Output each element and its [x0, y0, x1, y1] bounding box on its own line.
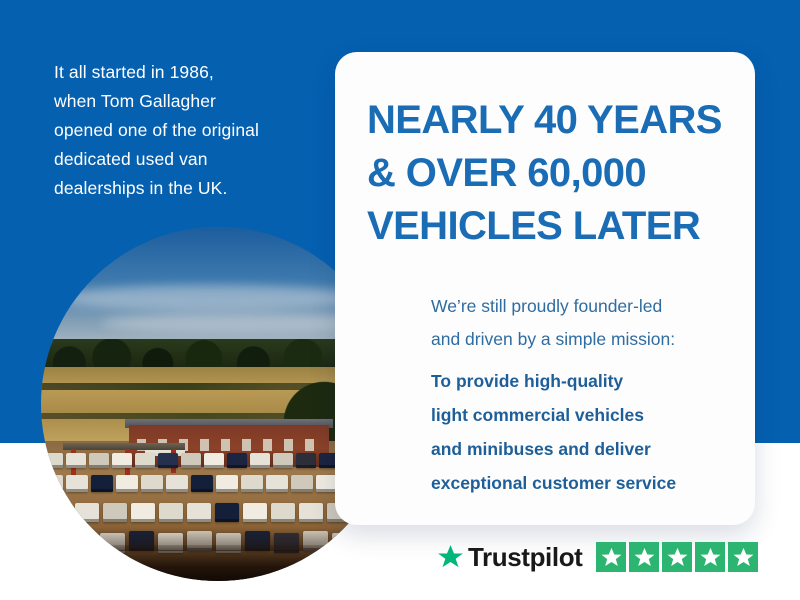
photo-vehicle [250, 453, 270, 468]
photo-vehicle [296, 453, 316, 468]
photo-vehicle [89, 453, 109, 468]
photo-vehicle [131, 503, 155, 522]
photo-vehicle [291, 475, 313, 492]
headline: NEARLY 40 YEARS & OVER 60,000 VEHICLES L… [367, 94, 747, 253]
content-card: NEARLY 40 YEARS & OVER 60,000 VEHICLES L… [335, 52, 755, 525]
photo-vehicle [243, 503, 267, 522]
mission-statement: To provide high-quality light commercial… [431, 364, 731, 500]
lede-line-2: and driven by a simple mission: [431, 323, 731, 356]
photo-vehicle [41, 475, 63, 492]
mission-line-3: and minibuses and deliver [431, 432, 731, 466]
mission-line-1: To provide high-quality [431, 364, 731, 398]
promo-graphic: It all started in 1986, when Tom Gallagh… [0, 0, 800, 600]
trustpilot-logo[interactable]: Trustpilot [437, 544, 582, 571]
lede-line-1: We’re still proudly founder-led [431, 290, 731, 323]
lede-paragraph: We’re still proudly founder-led and driv… [431, 290, 731, 356]
photo-vehicle [75, 503, 99, 522]
trustpilot-wordmark: Trustpilot [468, 544, 582, 570]
photo-vehicle [66, 475, 88, 492]
intro-paragraph: It all started in 1986, when Tom Gallagh… [54, 58, 316, 203]
photo-vehicle [216, 475, 238, 492]
photo-vehicle [103, 503, 127, 522]
photo-vehicle [181, 453, 201, 468]
photo-canopy [63, 443, 185, 450]
trustpilot-star-tile[interactable] [695, 542, 725, 572]
intro-line-1: It all started in 1986, [54, 58, 316, 87]
mission-line-2: light commercial vehicles [431, 398, 731, 432]
photo-vehicle [112, 453, 132, 468]
photo-foreground [41, 545, 395, 581]
trustpilot-star-tile[interactable] [629, 542, 659, 572]
intro-line-3: opened one of the original [54, 116, 316, 145]
star-icon [732, 546, 755, 569]
photo-vehicle [66, 453, 86, 468]
photo-vehicle [215, 503, 239, 522]
photo-vehicle [158, 453, 178, 468]
trustpilot-star-tile[interactable] [596, 542, 626, 572]
mission-line-4: exceptional customer service [431, 466, 731, 500]
trustpilot-star-tiles[interactable] [596, 542, 758, 572]
intro-line-4: dedicated used van [54, 145, 316, 174]
photo-vehicle [91, 475, 113, 492]
star-icon [666, 546, 689, 569]
photo-vehicle [241, 475, 263, 492]
headline-line-3: VEHICLES LATER [367, 200, 747, 253]
photo-vehicle [271, 503, 295, 522]
photo-vehicle [116, 475, 138, 492]
star-icon [600, 546, 623, 569]
photo-vehicle [266, 475, 288, 492]
star-icon [633, 546, 656, 569]
trustpilot-rating[interactable]: Trustpilot [437, 542, 758, 572]
photo-vehicle [187, 503, 211, 522]
photo-vehicle [166, 475, 188, 492]
photo-vehicle [273, 453, 293, 468]
photo-vehicle [159, 503, 183, 522]
headline-line-2: & OVER 60,000 [367, 147, 747, 200]
photo-vehicle [43, 453, 63, 468]
photo-vehicle [47, 503, 71, 522]
intro-line-2: when Tom Gallagher [54, 87, 316, 116]
trustpilot-star-icon [437, 544, 464, 571]
trustpilot-star-tile[interactable] [662, 542, 692, 572]
intro-line-5: dealerships in the UK. [54, 174, 316, 203]
photo-vehicle [299, 503, 323, 522]
photo-vehicle [204, 453, 224, 468]
star-icon [699, 546, 722, 569]
photo-vehicle [141, 475, 163, 492]
trustpilot-star-tile[interactable] [728, 542, 758, 572]
photo-vehicle [227, 453, 247, 468]
headline-line-1: NEARLY 40 YEARS [367, 94, 747, 147]
photo-vehicle [135, 453, 155, 468]
photo-vehicle [191, 475, 213, 492]
photo-cloud [61, 285, 361, 311]
